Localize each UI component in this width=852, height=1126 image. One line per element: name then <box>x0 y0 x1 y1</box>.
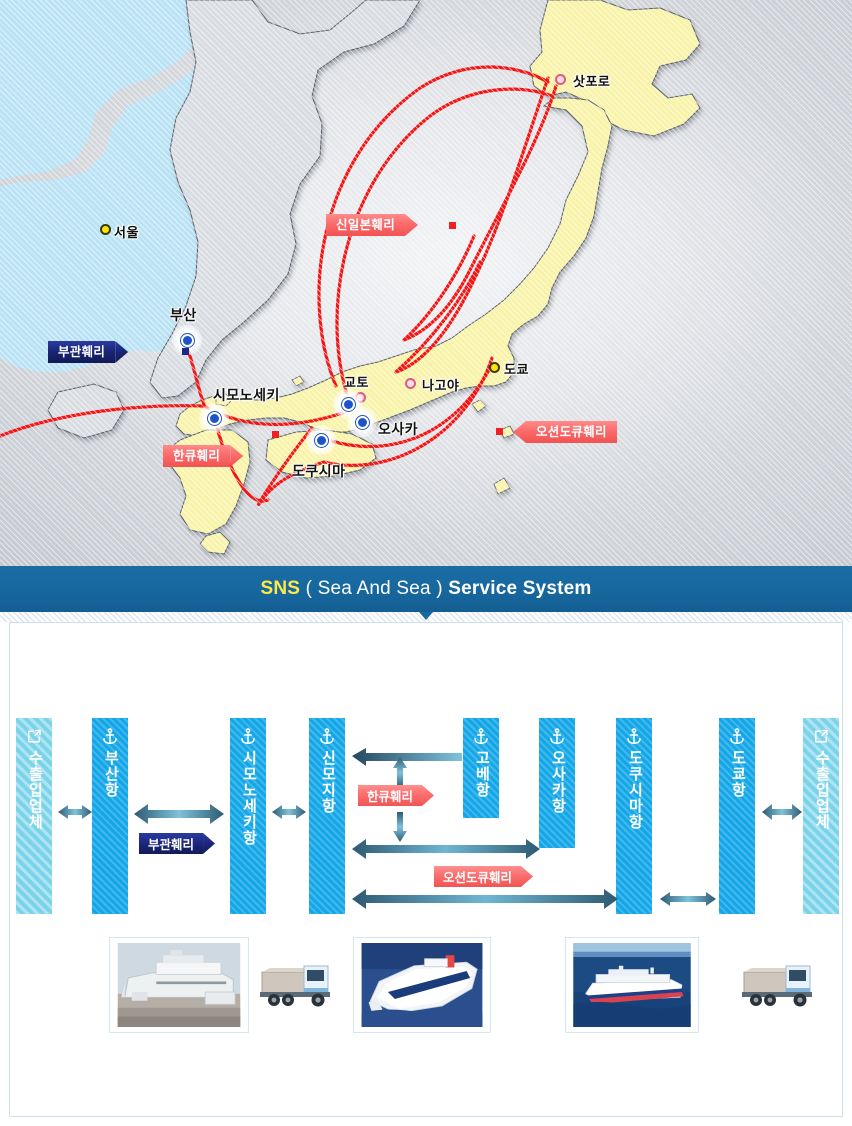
section-title-bar: SNS ( Sea And Sea ) Service System <box>0 566 852 612</box>
photo-truck-right <box>738 958 820 1012</box>
flow-label-tip <box>422 785 434 806</box>
bukwan-endpoint-square <box>182 348 189 355</box>
photo-ferry-aerial-image <box>359 943 485 1027</box>
city-label-sapporo: 삿포로 <box>573 71 610 90</box>
diagram-arrows <box>0 622 852 922</box>
map-label-bukwan-ferry-text: 부관훼리 <box>58 341 105 363</box>
photo-ferry-sailing <box>565 937 699 1033</box>
arrow-busan-shimonoseki <box>134 804 224 824</box>
photo-ferry-docked <box>109 937 249 1033</box>
flow-label-tip <box>521 866 533 887</box>
arrow-hankyu-up <box>393 757 407 788</box>
arrow-tokushima-tokyo <box>660 892 716 906</box>
shimonoseki-port-marker <box>199 403 229 433</box>
ribbon-tip-left <box>513 421 526 443</box>
flow-label-bukwan-ferry-text: 부관훼리 <box>148 834 194 853</box>
city-label-seoul: 서울 <box>114 222 139 241</box>
flow-label-bukwan-ferry: 부관훼리 <box>139 833 215 854</box>
map-label-oceantokyu-ferry: 오션도큐훼리 <box>513 421 617 443</box>
map-label-oceantokyu-ferry-text: 오션도큐훼리 <box>536 421 607 443</box>
map-graphics <box>0 0 852 566</box>
title-caret-icon <box>419 612 433 620</box>
photo-ferry-aerial <box>353 937 491 1033</box>
arrow-hankyu-down <box>393 812 407 842</box>
oceantokyu-endpoint-square <box>496 428 503 435</box>
arrow-tokyo-exportco <box>762 804 802 820</box>
title-tail-text: Service System <box>448 578 591 599</box>
city-label-osaka: 오사카 <box>378 419 418 439</box>
hankyu-endpoint-square <box>272 431 279 438</box>
map-label-hankyu-ferry-text: 한큐훼리 <box>173 445 220 467</box>
arrow-kobe-to-shinmoji-top <box>352 748 462 766</box>
city-label-kyoto: 교토 <box>344 372 369 391</box>
tokyo-marker <box>489 362 500 373</box>
map-label-shinnihon-ferry-text: 신일본훼리 <box>336 214 395 236</box>
route-map: 서울 삿포로 나고야 도쿄 교토 부산 시모노세키 오사카 도쿠시마 부관훼리 … <box>0 0 852 566</box>
osaka-port-marker <box>347 407 377 437</box>
tokushima-port-marker <box>306 425 336 455</box>
flow-label-oceantokyu-ferry-text: 오션도큐훼리 <box>443 867 512 886</box>
photo-ferry-docked-image <box>115 943 243 1027</box>
map-label-hankyu-ferry: 한큐훼리 <box>163 445 243 467</box>
arrow-exportco-busan <box>58 805 92 819</box>
nagoya-marker <box>405 378 416 389</box>
ribbon-tip-right <box>230 445 243 467</box>
city-label-tokyo: 도쿄 <box>504 359 529 378</box>
sapporo-marker <box>555 74 566 85</box>
arrow-shimonoseki-shinmoji <box>272 805 306 819</box>
flow-label-hankyu-ferry-text: 한큐훼리 <box>367 786 413 805</box>
ribbon-tip-right <box>405 214 418 236</box>
arrow-shinmoji-tokushima <box>352 889 618 909</box>
map-label-shinnihon-ferry: 신일본훼리 <box>326 214 418 236</box>
city-label-nagoya: 나고야 <box>422 375 459 394</box>
photo-truck-left <box>256 958 338 1012</box>
ribbon-tip-right <box>115 341 128 363</box>
map-label-bukwan-ferry: 부관훼리 <box>48 341 128 363</box>
title-sns-text: SNS <box>260 578 300 599</box>
page-title: SNS ( Sea And Sea ) Service System <box>260 578 591 600</box>
city-label-tokushima: 도쿠시마 <box>292 461 346 481</box>
flow-label-oceantokyu-ferry: 오션도큐훼리 <box>434 866 533 887</box>
photo-ferry-sailing-image <box>571 943 693 1027</box>
title-middle-text: ( Sea And Sea ) <box>300 578 448 599</box>
flow-label-hankyu-ferry: 한큐훼리 <box>358 785 434 806</box>
arrow-shinmoji-osaka <box>352 839 540 859</box>
city-label-busan: 부산 <box>170 305 197 325</box>
seoul-marker <box>100 224 111 235</box>
city-label-shimonoseki: 시모노세키 <box>213 385 280 405</box>
shinnihon-endpoint-square <box>449 222 456 229</box>
flow-label-tip <box>203 833 215 854</box>
